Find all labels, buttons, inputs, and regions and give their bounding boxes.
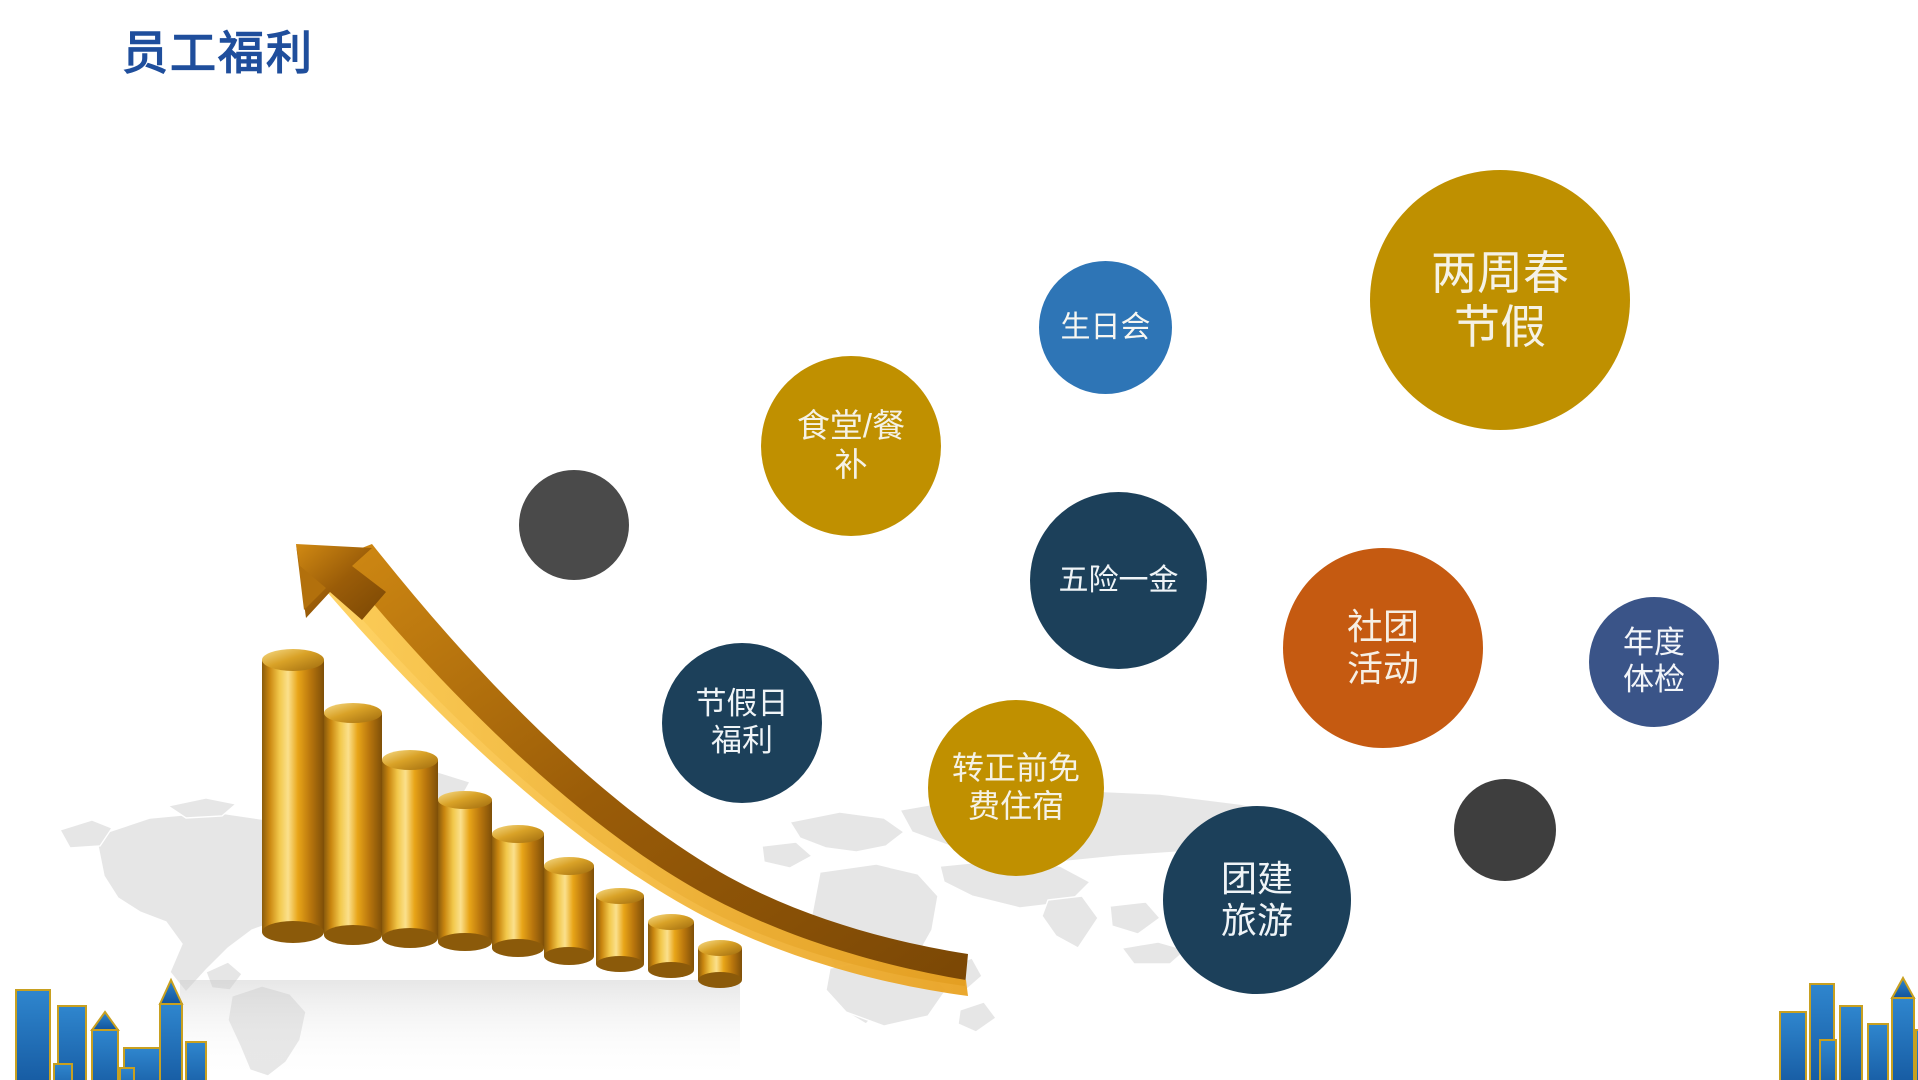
- bubble-label: 食堂/餐 补: [791, 407, 911, 485]
- decor-dot-right: [1454, 779, 1556, 881]
- bubble-canteen-meal-allowance[interactable]: 食堂/餐 补: [761, 356, 941, 536]
- city-skyline-left: [16, 980, 206, 1080]
- bubble-birthday-party[interactable]: 生日会: [1039, 261, 1172, 394]
- bubble-label: 五险一金: [1053, 563, 1185, 598]
- city-skyline-right: [1770, 978, 1918, 1080]
- bubble-label: 转正前免 费住宿: [946, 750, 1086, 826]
- bubble-social-insurance-housing-fund[interactable]: 五险一金: [1030, 492, 1207, 669]
- page-title: 员工福利: [122, 28, 314, 79]
- world-map-watermark: [60, 772, 1330, 1076]
- floor-reflection: [180, 980, 740, 1080]
- slide-root: 员工福利 两周春 节假 生日会 食堂/餐 补 五险一金 社团 活动 年度 体检 …: [0, 0, 1918, 1080]
- bubble-holiday-benefits[interactable]: 节假日 福利: [662, 643, 822, 803]
- bubble-label: 社团 活动: [1341, 606, 1425, 691]
- bubble-label: 节假日 福利: [690, 686, 795, 759]
- bubble-free-housing-before-regularization[interactable]: 转正前免 费住宿: [928, 700, 1104, 876]
- bubble-club-activities[interactable]: 社团 活动: [1283, 548, 1483, 748]
- bubble-annual-physical-exam[interactable]: 年度 体检: [1589, 597, 1719, 727]
- bubble-label: 团建 旅游: [1215, 858, 1299, 943]
- background-artwork: [0, 0, 1918, 1080]
- bubble-label: 年度 体检: [1617, 625, 1691, 698]
- decor-dot-left: [519, 470, 629, 580]
- bubble-label: 两周春 节假: [1425, 246, 1575, 355]
- bubble-label: 生日会: [1055, 310, 1157, 345]
- gold-growth-arrow: [296, 544, 968, 996]
- bubble-spring-festival-holiday[interactable]: 两周春 节假: [1370, 170, 1630, 430]
- bubble-team-building-travel[interactable]: 团建 旅游: [1163, 806, 1351, 994]
